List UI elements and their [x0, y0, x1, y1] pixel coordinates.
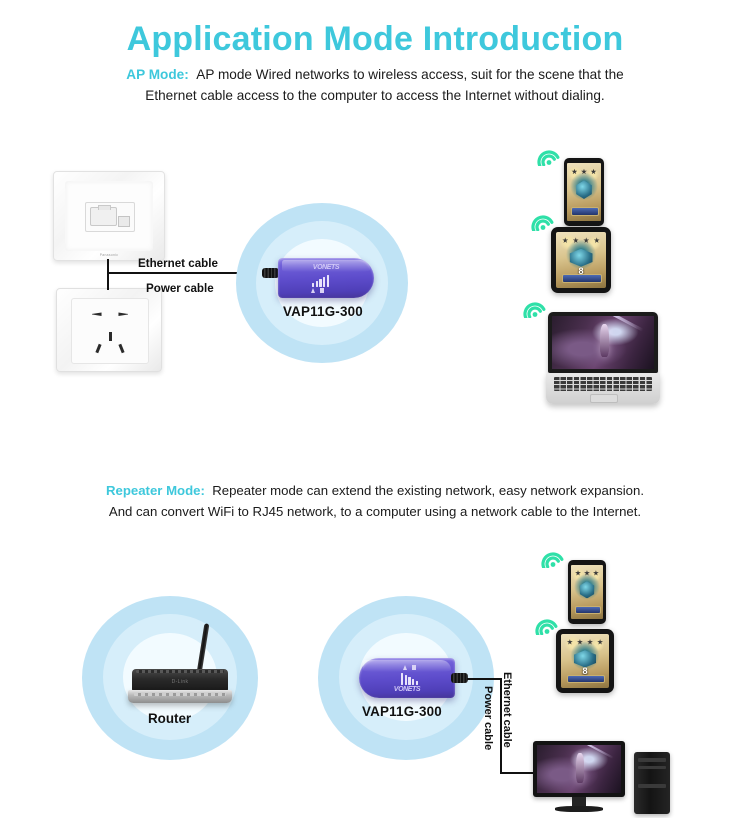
repeater-cable-horizontal [467, 678, 502, 680]
smartphone-repeater [568, 560, 606, 624]
tower-vent [638, 784, 665, 788]
socket-slot-left [92, 312, 102, 316]
desktop-tower [634, 752, 670, 814]
tablet-card-art: 8 [561, 634, 609, 688]
wifi-router: D-Link [128, 653, 232, 707]
phone-screen [571, 565, 603, 619]
socket-slot-earth [109, 332, 112, 340]
phone-screen [567, 163, 601, 221]
card-gem [574, 650, 596, 667]
router-base [128, 690, 232, 703]
router-logo: D-Link [128, 679, 232, 685]
card-gem [576, 180, 592, 199]
laptop-wallpaper [552, 316, 653, 369]
ap-power-cable-label: Power cable [146, 282, 214, 295]
card-stars [565, 638, 605, 646]
ap-mode-line-1: AP Mode: AP mode Wired networks to wirel… [0, 64, 750, 85]
tower-drive-bay-2 [638, 766, 665, 770]
laptop-ap [546, 312, 660, 410]
tower-drive-bay-1 [638, 758, 665, 762]
laptop-screen [552, 316, 653, 369]
monitor-bezel [533, 741, 625, 797]
repeater-mode-label: Repeater Mode: [106, 483, 205, 498]
monitor-stand-base [555, 806, 603, 812]
ap-mode-text-1: AP mode Wired networks to wireless acces… [196, 67, 623, 82]
wifi-icon-phone-ap [536, 144, 562, 171]
card-stars [574, 569, 601, 577]
router-base-strip [134, 693, 226, 696]
card-banner [571, 207, 599, 216]
socket-slot-live [95, 344, 101, 353]
jack-drop-wire [107, 259, 109, 273]
rj45-port-assembly [85, 202, 135, 232]
rj45-port [90, 207, 117, 226]
status-leds-icon [403, 665, 416, 670]
status-leds-icon [311, 288, 324, 293]
phone-card-art [567, 163, 601, 221]
repeater-power-cable-label: Power cable [482, 686, 494, 750]
monitor-screen [537, 745, 621, 793]
vap11g-device-repeater: VONETS [359, 658, 455, 698]
ethernet-wall-jack: Panasonic [53, 171, 165, 261]
laptop-trackpad [590, 394, 617, 403]
repeater-ethernet-cable-label: Ethernet cable [501, 672, 513, 748]
card-stars [560, 236, 602, 244]
power-wall-socket [56, 288, 162, 372]
router-vents [136, 670, 223, 673]
device-logo: VONETS [359, 686, 455, 693]
ap-mode-description: AP Mode: AP mode Wired networks to wirel… [0, 64, 750, 106]
infographic-page: Application Mode Introduction AP Mode: A… [0, 0, 750, 818]
desktop-monitor [533, 741, 625, 813]
repeater-mode-text-1: Repeater mode can extend the existing ne… [212, 483, 644, 498]
phone-card-art [571, 565, 603, 619]
card-gem [580, 581, 595, 598]
signal-bars-icon [401, 672, 418, 685]
socket-face [71, 298, 150, 364]
tablet-repeater: 8 [556, 629, 614, 693]
repeater-cable-plug [451, 673, 468, 683]
tablet-card-art: 8 [556, 232, 606, 288]
power-cable-riser [107, 274, 109, 290]
ap-mode-text-2: Ethernet cable access to the computer to… [0, 85, 750, 106]
device-logo: VONETS [278, 264, 374, 271]
repeater-cable-to-pc [500, 772, 534, 774]
vap11g-device-ap: VONETS [278, 258, 374, 298]
wifi-icon-laptop-ap [522, 296, 548, 323]
laptop-lid [548, 312, 657, 373]
socket-slot-neutral [119, 344, 125, 353]
repeater-mode-description: Repeater Mode: Repeater mode can extend … [0, 480, 750, 522]
tablet-ap: 8 [551, 227, 611, 293]
wifi-icon-phone-repeater [540, 546, 566, 573]
ap-mode-label: AP Mode: [126, 67, 188, 82]
ap-device-name: VAP11G-300 [283, 304, 363, 319]
repeater-mode-line-1: Repeater Mode: Repeater mode can extend … [0, 480, 750, 501]
tablet-screen: 8 [561, 634, 609, 688]
page-title: Application Mode Introduction [0, 20, 750, 59]
router-label: Router [148, 711, 191, 726]
card-banner [575, 606, 601, 614]
smartphone-ap [564, 158, 604, 226]
socket-slot-right [118, 312, 128, 316]
card-gem [570, 249, 593, 267]
card-stars [570, 168, 599, 176]
ap-ethernet-cable-label: Ethernet cable [138, 257, 218, 270]
card-banner [567, 675, 605, 683]
ap-cable-plug [262, 268, 279, 278]
laptop-keyboard [554, 377, 652, 392]
monitor-wallpaper [537, 745, 621, 793]
rj45-blank-insert [118, 216, 131, 228]
tablet-screen: 8 [556, 232, 606, 288]
repeater-device-name: VAP11G-300 [362, 704, 442, 719]
repeater-mode-text-2: And can convert WiFi to RJ45 network, to… [0, 501, 750, 522]
card-banner [562, 274, 602, 283]
signal-bars-icon [312, 274, 329, 287]
